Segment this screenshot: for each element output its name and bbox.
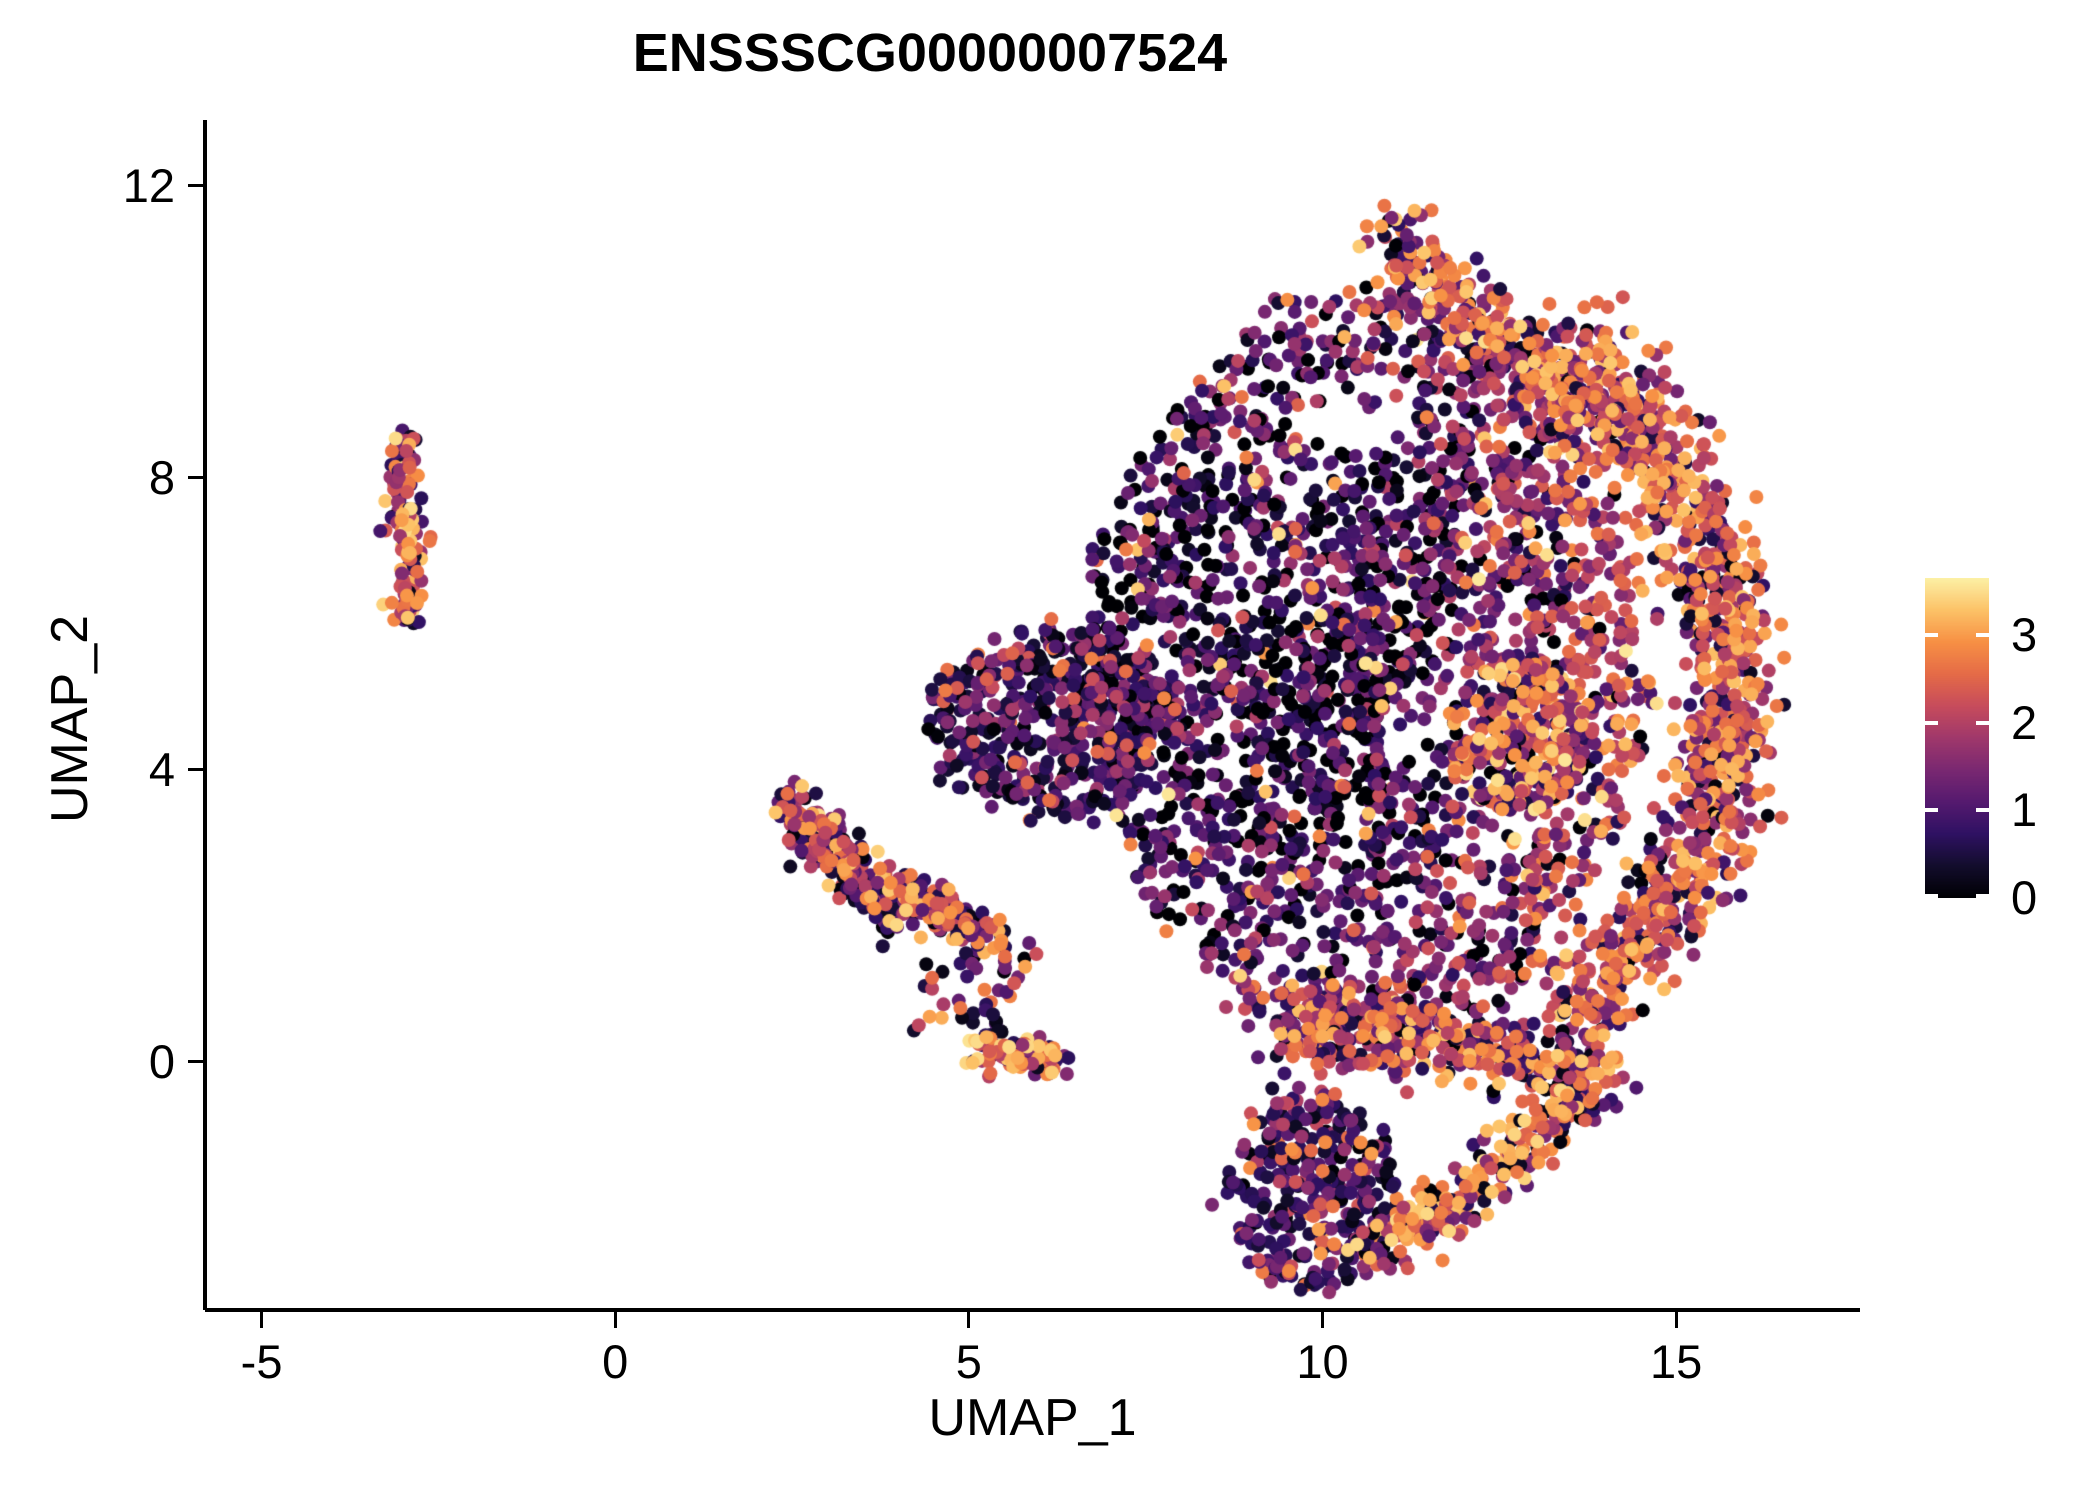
colorbar-tick-label: 1 (2011, 786, 2037, 833)
colorbar-tick-label: 3 (2011, 611, 2037, 658)
x-tick-mark (967, 1312, 970, 1328)
colorbar-gradient (1925, 578, 1989, 898)
scatter-plot-panel (205, 120, 1860, 1310)
y-tick-mark (188, 184, 204, 187)
y-tick-mark (188, 768, 204, 771)
x-tick-mark (1675, 1312, 1678, 1328)
y-axis-title: UMAP_2 (44, 339, 96, 1099)
colorbar-tick-label: 2 (2011, 699, 2037, 746)
x-tick-label: 15 (1576, 1338, 1776, 1385)
y-axis-line (203, 120, 207, 1310)
x-tick-label: 10 (1222, 1338, 1422, 1385)
x-axis-line (205, 1308, 1860, 1312)
feature-plot-figure: ENSSSCG00000007524 12840 -5051015 UMAP_1… (0, 0, 2100, 1500)
x-axis-title: UMAP_1 (205, 1392, 1860, 1444)
x-tick-label: 5 (869, 1338, 1069, 1385)
y-tick-label: 12 (25, 162, 175, 209)
x-tick-label: 0 (515, 1338, 715, 1385)
x-tick-mark (614, 1312, 617, 1328)
x-tick-label: -5 (162, 1338, 362, 1385)
scatter-points-layer (205, 120, 1860, 1310)
y-tick-mark (188, 1060, 204, 1063)
x-tick-mark (260, 1312, 263, 1328)
colorbar-tick-label: 0 (2011, 874, 2037, 921)
y-tick-mark (188, 476, 204, 479)
colorbar-legend: 3210 (1925, 578, 2075, 898)
x-tick-mark (1321, 1312, 1324, 1328)
page-title: ENSSSCG00000007524 (0, 26, 1860, 80)
